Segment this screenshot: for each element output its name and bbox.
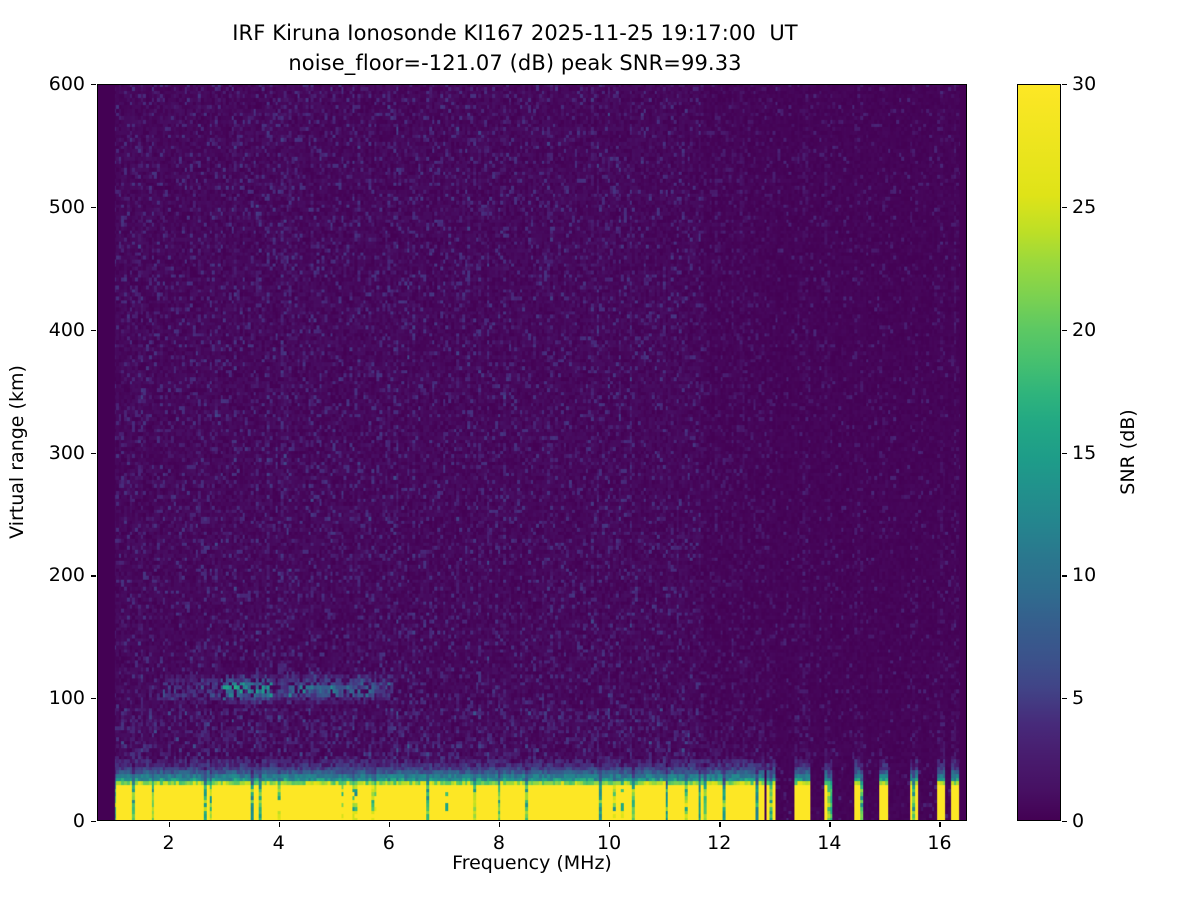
colorbar-tick	[1062, 84, 1067, 85]
title-line-2: noise_floor=-121.07 (dB) peak SNR=99.33	[0, 48, 1030, 78]
colorbar-tick	[1062, 821, 1067, 822]
figure-title: IRF Kiruna Ionosonde KI167 2025-11-25 19…	[0, 18, 1030, 78]
x-tick-label: 10	[597, 832, 621, 854]
y-tick	[91, 821, 96, 822]
y-tick-label: 600	[49, 73, 85, 95]
x-tick	[939, 822, 940, 827]
x-tick	[169, 822, 170, 827]
y-tick	[91, 84, 96, 85]
colorbar-tick	[1062, 453, 1067, 454]
colorbar-tick-label: 5	[1072, 687, 1084, 709]
y-tick-label: 0	[73, 810, 85, 832]
x-tick	[389, 822, 390, 827]
y-tick-label: 100	[49, 687, 85, 709]
x-tick	[279, 822, 280, 827]
y-tick	[91, 330, 96, 331]
y-tick-label: 200	[49, 564, 85, 586]
title-line-1: IRF Kiruna Ionosonde KI167 2025-11-25 19…	[0, 18, 1030, 48]
x-tick-label: 6	[383, 832, 395, 854]
y-tick	[91, 698, 96, 699]
colorbar-tick-label: 30	[1072, 73, 1096, 95]
colorbar-tick	[1062, 698, 1067, 699]
colorbar-label: SNR (dB)	[1117, 409, 1139, 494]
x-tick-label: 2	[163, 832, 175, 854]
x-tick-label: 4	[273, 832, 285, 854]
x-tick-label: 12	[707, 832, 731, 854]
y-tick	[91, 453, 96, 454]
y-tick-label: 400	[49, 319, 85, 341]
colorbar-tick	[1062, 207, 1067, 208]
axis-tick-layer: 0100200300400500600246810121416	[97, 84, 967, 821]
colorbar-tick-layer: 051015202530	[1017, 84, 1061, 821]
colorbar-tick	[1062, 330, 1067, 331]
colorbar-tick	[1062, 575, 1067, 576]
colorbar-tick-label: 20	[1072, 319, 1096, 341]
y-tick-label: 300	[49, 442, 85, 464]
x-tick	[829, 822, 830, 827]
colorbar-tick-label: 15	[1072, 442, 1096, 464]
x-axis-label: Frequency (MHz)	[452, 852, 612, 874]
y-tick	[91, 575, 96, 576]
ionogram-figure: IRF Kiruna Ionosonde KI167 2025-11-25 19…	[0, 0, 1200, 900]
x-tick-label: 16	[927, 832, 951, 854]
colorbar-tick-label: 25	[1072, 196, 1096, 218]
x-tick-label: 14	[817, 832, 841, 854]
x-tick	[719, 822, 720, 827]
y-tick-label: 500	[49, 196, 85, 218]
colorbar-tick-label: 10	[1072, 564, 1096, 586]
y-axis-label: Virtual range (km)	[6, 365, 28, 539]
x-tick	[499, 822, 500, 827]
x-tick-label: 8	[493, 832, 505, 854]
y-tick	[91, 207, 96, 208]
colorbar-tick-label: 0	[1072, 810, 1084, 832]
x-tick	[609, 822, 610, 827]
